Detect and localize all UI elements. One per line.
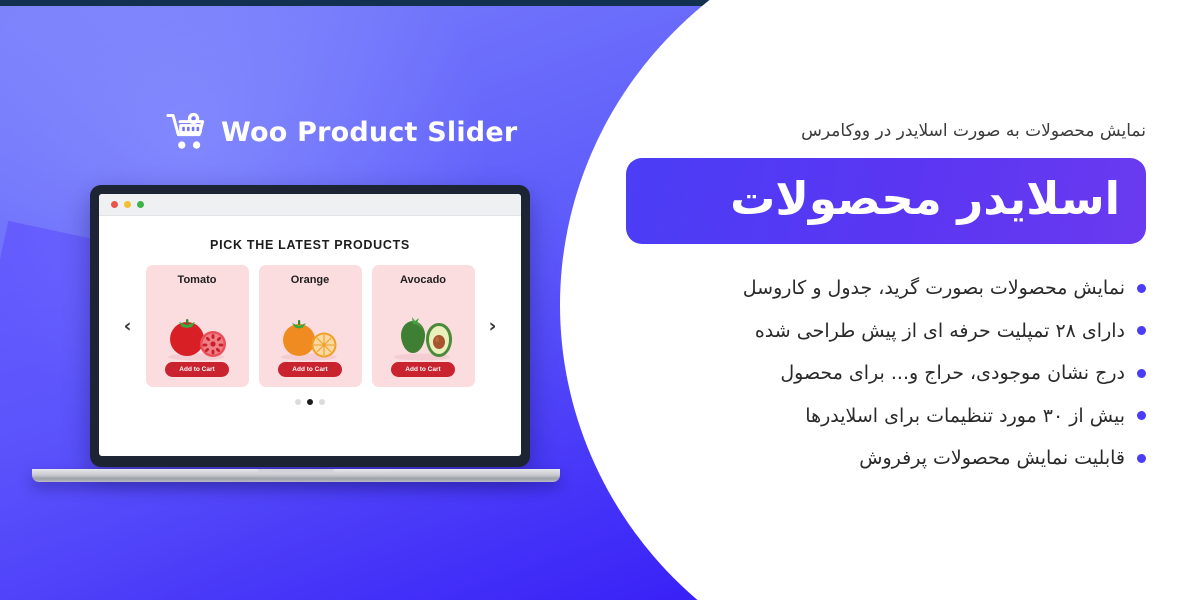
add-to-cart-button[interactable]: Add to Cart	[165, 362, 228, 377]
product-card[interactable]: Avocado Add to Cart	[372, 265, 475, 387]
feature-text: بیش از ۳۰ مورد تنظیمات برای اسلایدرها	[805, 402, 1125, 431]
add-to-cart-button[interactable]: Add to Cart	[278, 362, 341, 377]
slider-prev-arrow[interactable]: ‹	[120, 317, 136, 336]
window-minimize-dot[interactable]	[124, 201, 131, 208]
product-name: Orange	[291, 274, 330, 286]
window-maximize-dot[interactable]	[137, 201, 144, 208]
pagination-dot[interactable]	[319, 399, 325, 405]
laptop-notch	[258, 469, 334, 474]
page-title: اسلایدر محصولات	[730, 172, 1120, 225]
pagination-dot-active[interactable]	[307, 399, 313, 405]
product-name: Tomato	[178, 274, 217, 286]
product-name: Avocado	[400, 274, 446, 286]
slider-next-arrow[interactable]: ›	[485, 317, 501, 336]
laptop-screen: PICK THE LATEST PRODUCTS ‹ Tomato	[99, 194, 521, 456]
product-card[interactable]: Tomato	[146, 265, 249, 387]
feature-text: نمایش محصولات بصورت گرید، جدول و کاروسل	[743, 274, 1125, 303]
list-item: نمایش محصولات بصورت گرید، جدول و کاروسل	[626, 274, 1146, 303]
brand-lockup: Woo Product Slider	[166, 112, 517, 152]
list-item: دارای ۲۸ تمپلیت حرفه ای از پیش طراحی شده	[626, 317, 1146, 346]
feature-text: دارای ۲۸ تمپلیت حرفه ای از پیش طراحی شده	[755, 317, 1125, 346]
shopping-cart-icon	[166, 112, 208, 152]
bullet-icon	[1137, 454, 1146, 463]
list-item: قابلیت نمایش محصولات پرفروش	[626, 444, 1146, 473]
right-content-panel: نمایش محصولات به صورت اسلایدر در ووکامرس…	[626, 120, 1146, 487]
subtitle: نمایش محصولات به صورت اسلایدر در ووکامرس	[626, 120, 1146, 144]
feature-text: قابلیت نمایش محصولات پرفروش	[859, 444, 1125, 473]
laptop-lid: PICK THE LATEST PRODUCTS ‹ Tomato	[90, 185, 530, 467]
bullet-icon	[1137, 326, 1146, 335]
bullet-icon	[1137, 284, 1146, 293]
product-slider: ‹ Tomato	[99, 265, 521, 387]
window-close-dot[interactable]	[111, 201, 118, 208]
laptop-mockup: PICK THE LATEST PRODUCTS ‹ Tomato	[32, 185, 560, 482]
product-card[interactable]: Orange	[259, 265, 362, 387]
browser-title-bar	[99, 194, 521, 216]
bullet-icon	[1137, 411, 1146, 420]
pagination-dot[interactable]	[295, 399, 301, 405]
list-item: بیش از ۳۰ مورد تنظیمات برای اسلایدرها	[626, 402, 1146, 431]
slider-heading: PICK THE LATEST PRODUCTS	[99, 238, 521, 252]
feature-text: درج نشان موجودی، حراج و... برای محصول	[780, 359, 1125, 388]
add-to-cart-button[interactable]: Add to Cart	[391, 362, 454, 377]
list-item: درج نشان موجودی، حراج و... برای محصول	[626, 359, 1146, 388]
slider-pagination	[99, 399, 521, 405]
title-box: اسلایدر محصولات	[626, 158, 1146, 244]
laptop-base	[32, 469, 560, 482]
brand-title: Woo Product Slider	[221, 117, 517, 148]
bullet-icon	[1137, 369, 1146, 378]
feature-list: نمایش محصولات بصورت گرید، جدول و کاروسل …	[626, 274, 1146, 473]
